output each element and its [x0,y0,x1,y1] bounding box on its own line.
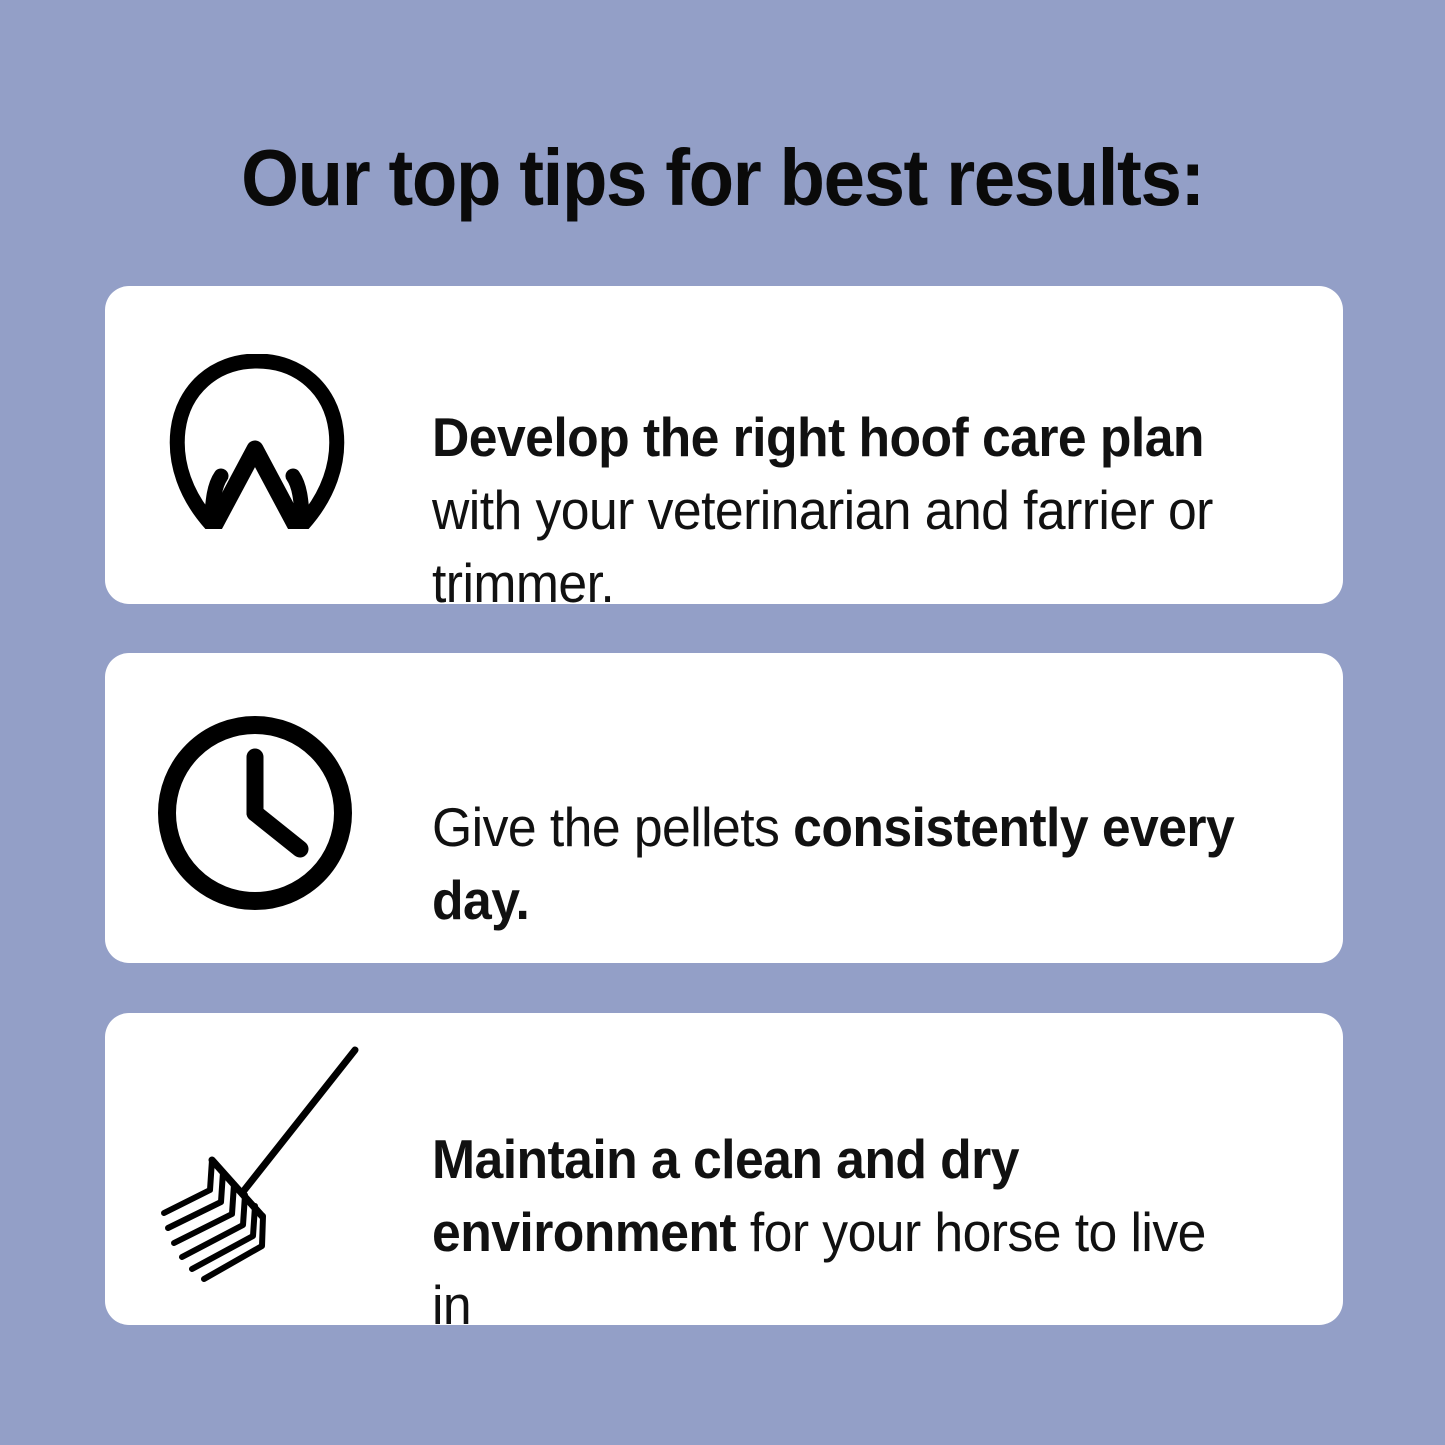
tip-card-1-bold: Develop the right hoof care plan [432,406,1204,468]
rake-icon [150,1038,390,1288]
tip-card-3-text: Maintain a clean and dry environment for… [432,1123,1245,1342]
clock-icon [157,715,353,911]
hoof-icon [167,354,347,529]
page-title: Our top tips for best results: [51,132,1395,224]
tips-infographic: Our top tips for best results: Develop t… [0,0,1445,1445]
tip-card-2-lead: Give the pellets [432,796,793,858]
tip-card-3: Maintain a clean and dry environment for… [105,1013,1343,1325]
tip-card-2: Give the pellets consistently every day. [105,653,1343,963]
tip-card-1-rest: with your veterinarian and farrier or tr… [432,479,1213,614]
tip-card-1: Develop the right hoof care plan with yo… [105,286,1343,604]
tip-card-2-text: Give the pellets consistently every day. [432,791,1245,937]
tip-card-1-text: Develop the right hoof care plan with yo… [432,401,1245,620]
